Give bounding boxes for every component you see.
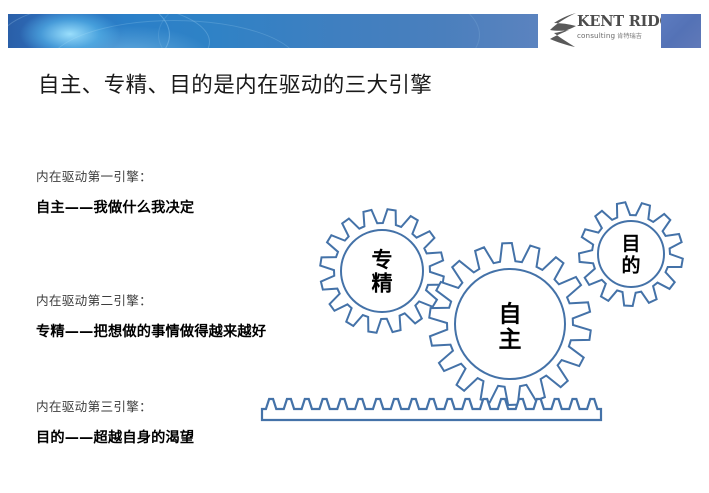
gear-autonomy: 自主	[429, 243, 591, 405]
engine-lead-label: 内在驱动第二引擎：	[36, 292, 266, 310]
banner-arc-decoration	[8, 14, 170, 48]
gear-mastery-label-char: 专	[372, 248, 393, 272]
page-title: 自主、专精、目的是内在驱动的三大引擎	[38, 68, 432, 99]
engine-statement: 目的——超越自身的渴望	[36, 428, 194, 448]
gear-mastery-label-char: 精	[372, 271, 393, 295]
engine-block-3: 内在驱动第三引擎： 目的——超越自身的渴望	[36, 398, 194, 448]
gear-mastery: 专精	[320, 209, 444, 333]
engine-block-2: 内在驱动第二引擎： 专精——把想做的事情做得越来越好	[36, 292, 266, 342]
header-banner-bar	[8, 14, 538, 48]
gear-purpose-label-char: 的	[621, 253, 640, 276]
gear-autonomy-label-char: 自	[499, 300, 522, 327]
gear-autonomy-label-char: 主	[499, 327, 522, 353]
logo-bird-icon	[545, 12, 579, 48]
banner-arc-decoration	[48, 20, 300, 48]
slide-canvas: KENT RIDGE consulting肯特瑞吉 自主、专精、目的是内在驱动的…	[0, 0, 709, 493]
rack-bar-shape	[262, 399, 601, 420]
banner-arc-decoration	[8, 14, 210, 48]
gear-purpose: 目的	[579, 202, 683, 306]
banner-arc-decoration	[158, 14, 480, 48]
logo-text-group: KENT RIDGE consulting肯特瑞吉	[577, 14, 657, 41]
logo-tagline-cjk: 肯特瑞吉	[617, 33, 642, 40]
engine-statement: 专精——把想做的事情做得越来越好	[36, 322, 266, 342]
logo-tagline: consulting肯特瑞吉	[577, 31, 657, 41]
gear-rack-bar	[262, 399, 601, 420]
gear-diagram-svg: 专精 自主 目的	[255, 196, 709, 436]
gear-purpose-label-char: 目	[621, 233, 640, 255]
header-corner-block	[661, 14, 701, 48]
kent-ridge-logo: KENT RIDGE consulting肯特瑞吉	[545, 12, 657, 48]
logo-tagline-en: consulting	[577, 31, 615, 40]
engine-lead-label: 内在驱动第一引擎：	[36, 168, 194, 186]
engine-block-1: 内在驱动第一引擎： 自主——我做什么我决定	[36, 168, 194, 218]
logo-brand-text: KENT RIDGE	[577, 14, 657, 30]
gear-diagram: 专精 自主 目的	[255, 196, 709, 436]
engine-statement: 自主——我做什么我决定	[36, 198, 194, 218]
engine-lead-label: 内在驱动第三引擎：	[36, 398, 194, 416]
